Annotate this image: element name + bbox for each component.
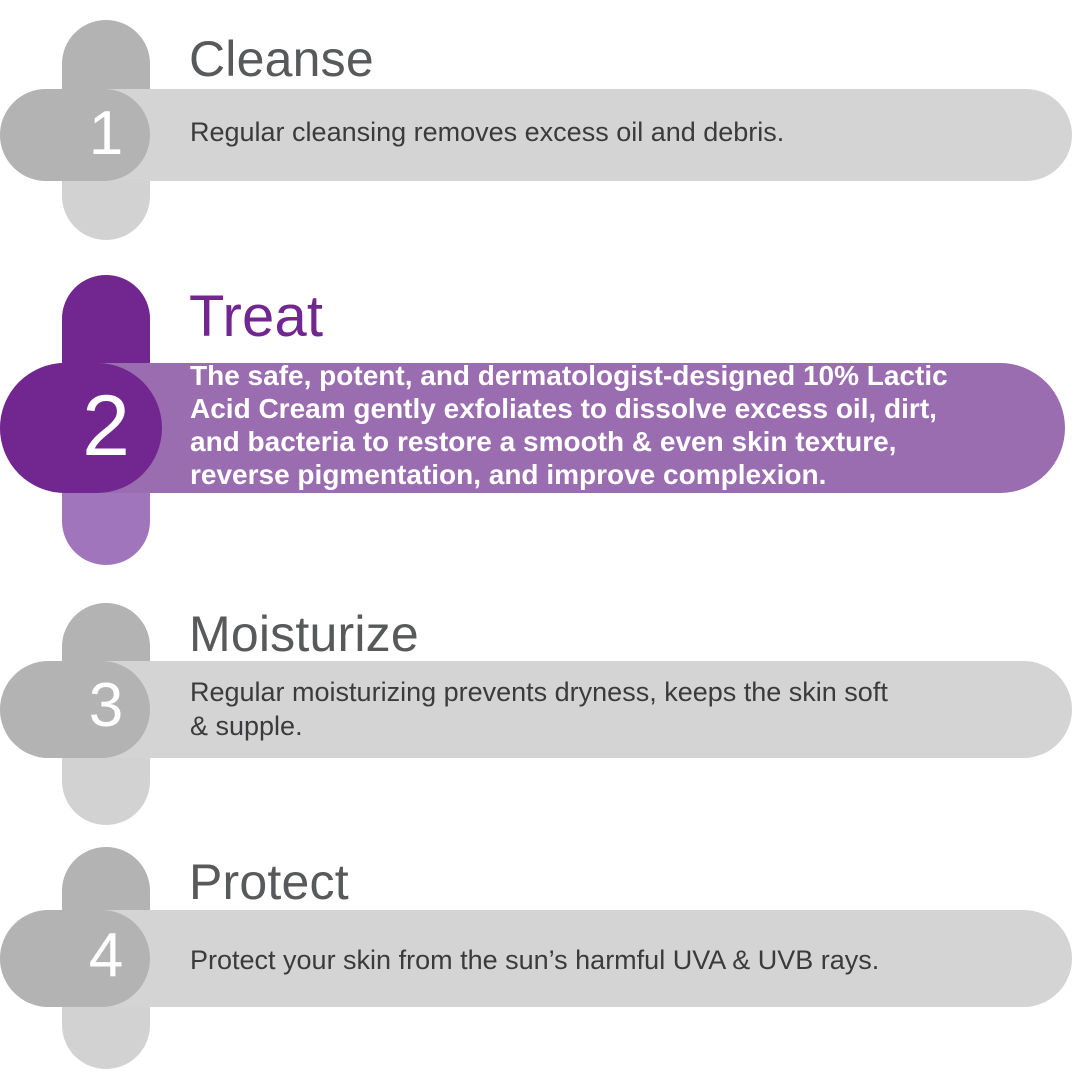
routine-step-cleanse: 1 Cleanse Regular cleansing removes exce… — [0, 0, 1080, 265]
skincare-routine-infographic: 1 Cleanse Regular cleansing removes exce… — [0, 0, 1080, 1080]
step-description: Regular moisturizing prevents dryness, k… — [190, 675, 888, 743]
step-description-line: Regular cleansing removes excess oil and… — [190, 115, 784, 149]
step-title: Cleanse — [189, 30, 374, 88]
step-description-line: reverse pigmentation, and improve comple… — [190, 458, 948, 491]
step-description-line: The safe, potent, and dermatologist-desi… — [190, 359, 948, 392]
step-number: 2 — [62, 383, 150, 469]
step-description-line: Protect your skin from the sun’s harmful… — [190, 943, 879, 977]
step-description: The safe, potent, and dermatologist-desi… — [190, 359, 948, 491]
step-badge-vertical-top — [62, 603, 150, 661]
step-description-line: Regular moisturizing prevents dryness, k… — [190, 675, 888, 709]
step-description: Regular cleansing removes excess oil and… — [190, 115, 784, 149]
step-number: 1 — [62, 103, 150, 165]
step-badge-vertical-top — [62, 275, 150, 363]
routine-step-treat: 2 Treat The safe, potent, and dermatolog… — [0, 265, 1080, 585]
step-description-line: Acid Cream gently exfoliates to dissolve… — [190, 392, 948, 425]
step-description: Protect your skin from the sun’s harmful… — [190, 943, 879, 977]
step-description-line: and bacteria to restore a smooth & even … — [190, 425, 948, 458]
step-badge-vertical-top — [62, 20, 150, 89]
step-title: Moisturize — [189, 605, 419, 663]
step-title: Protect — [189, 853, 349, 911]
routine-step-moisturize: 3 Moisturize Regular moisturizing preven… — [0, 585, 1080, 835]
step-badge-vertical-top — [62, 847, 150, 910]
step-title: Treat — [189, 283, 323, 350]
step-description-line: & supple. — [190, 709, 888, 743]
routine-step-protect: 4 Protect Protect your skin from the sun… — [0, 835, 1080, 1080]
step-number: 3 — [62, 675, 150, 737]
step-number: 4 — [62, 925, 150, 987]
